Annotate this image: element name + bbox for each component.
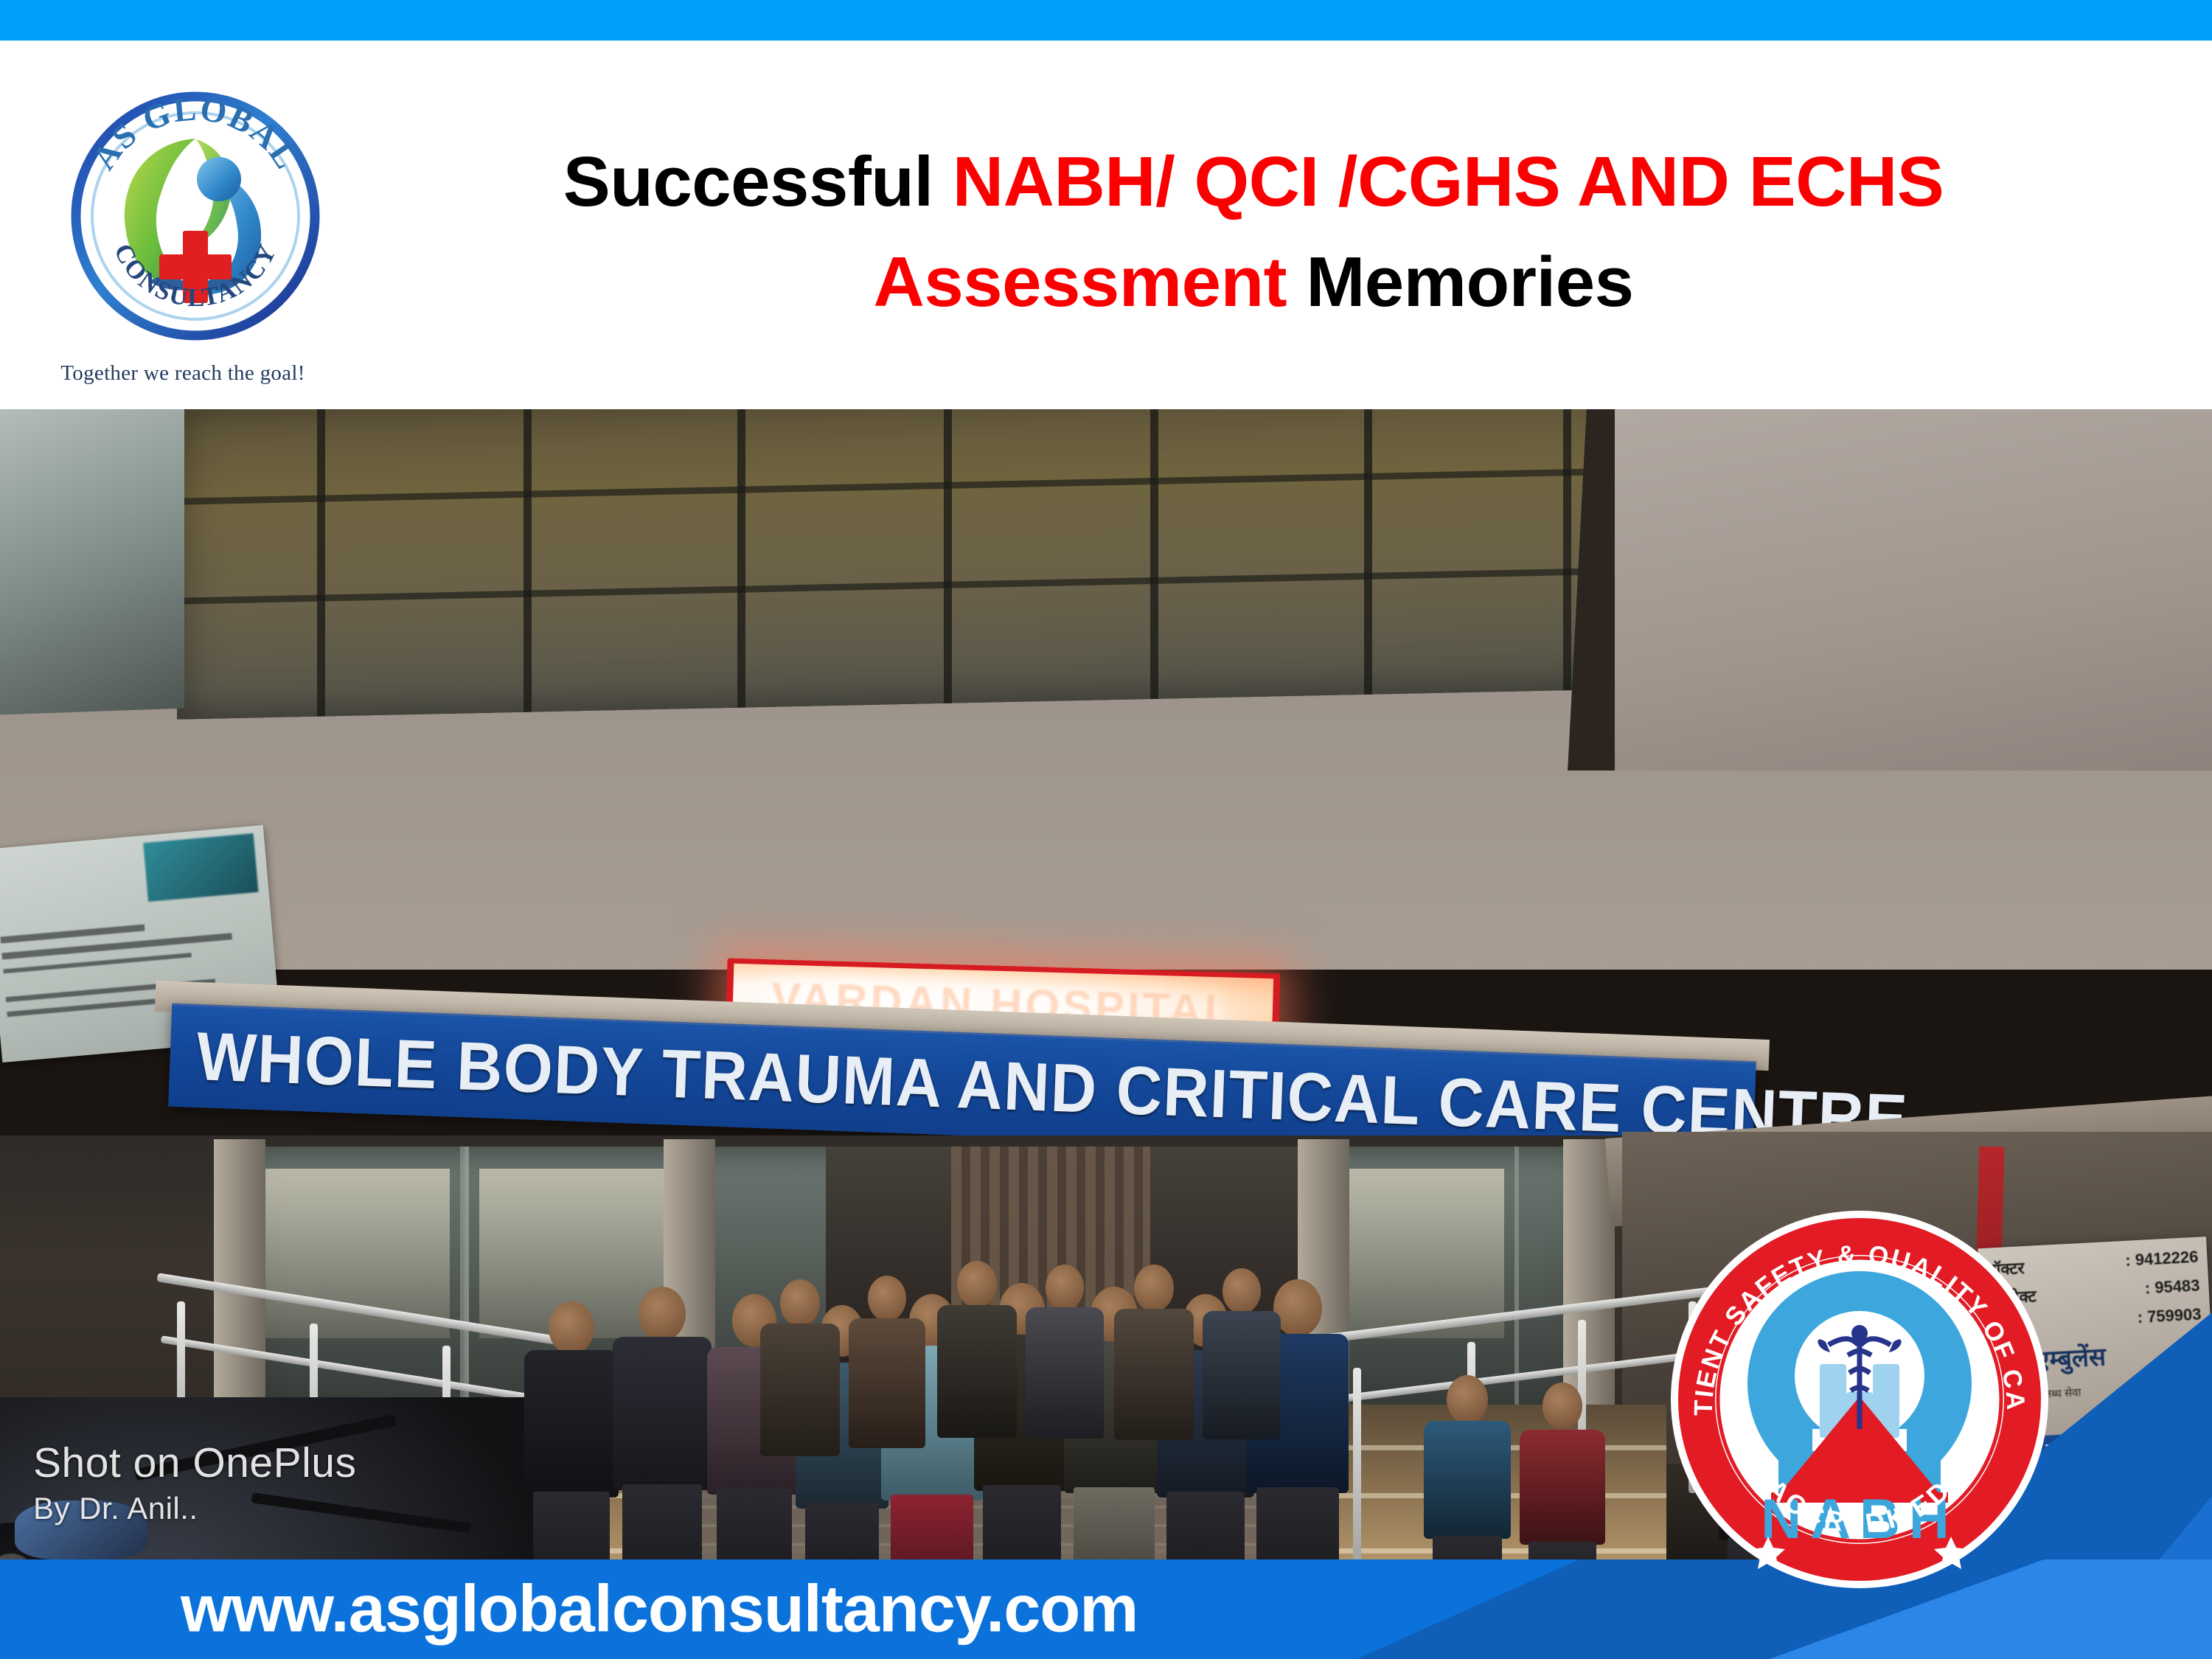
title-line-1-black: Successful — [563, 142, 953, 221]
notice-row-value: : 759903 — [2137, 1305, 2202, 1331]
as-global-consultancy-logo-icon: AS GLOBAL CONSULTANCY — [66, 69, 324, 364]
notice-row-value: : 95483 — [2144, 1276, 2200, 1301]
wall-poster-image — [143, 833, 258, 902]
brand-logo-block: AS GLOBAL CONSULTANCY Together we reach … — [28, 48, 338, 417]
person — [1025, 1265, 1105, 1508]
upper-floor-glazing — [177, 409, 1637, 720]
watermark-line-1: Shot on OnePlus — [33, 1438, 356, 1489]
watermark-line-2: By Dr. Anil.. — [33, 1489, 356, 1527]
person — [759, 1279, 841, 1523]
website-url[interactable]: www.asglobalconsultancy.com — [181, 1571, 1138, 1647]
title-line-2-black: Memories — [1287, 243, 1633, 321]
person — [848, 1276, 926, 1512]
person — [1113, 1265, 1194, 1508]
right-wall — [1615, 409, 2212, 771]
left-glass-panel — [0, 409, 184, 714]
group-photo-people — [516, 1265, 1401, 1559]
title-line-1-red: NABH/ QCI /CGHS AND ECHS — [953, 142, 1944, 221]
poster-canvas: AS GLOBAL CONSULTANCY Together we reach … — [0, 0, 2212, 1659]
nabh-accreditation-seal-icon: NABH PATIENT SAFETY & QUALITY OF CARE AC… — [1668, 1208, 2051, 1591]
person — [936, 1261, 1018, 1508]
header-band: AS GLOBAL CONSULTANCY Together we reach … — [0, 41, 2212, 409]
title-line-2-red: Assessment — [874, 243, 1287, 321]
person — [612, 1287, 712, 1559]
title-line-2: Assessment Memories — [874, 232, 1634, 333]
top-accent-bar — [0, 0, 2212, 41]
person — [524, 1301, 619, 1559]
person — [1202, 1268, 1281, 1504]
person — [1423, 1375, 1512, 1559]
title-line-1: Successful NABH/ QCI /CGHS AND ECHS — [563, 132, 1944, 232]
notice-row-value: : 9412226 — [2125, 1248, 2199, 1273]
camera-watermark: Shot on OnePlus By Dr. Anil.. — [33, 1438, 356, 1527]
page-title: Successful NABH/ QCI /CGHS AND ECHS Asse… — [413, 85, 2094, 380]
person — [1519, 1382, 1606, 1559]
logo-tagline: Together we reach the goal! — [28, 361, 338, 386]
